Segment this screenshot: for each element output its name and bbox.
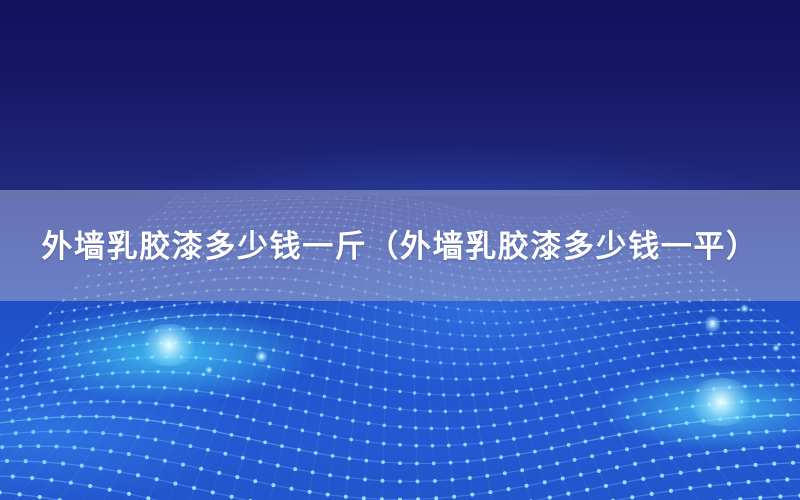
sky-haze-overlay — [0, 0, 800, 196]
page-title: 外墙乳胶漆多少钱一斤（外墙乳胶漆多少钱一平） — [41, 232, 758, 263]
title-band: 外墙乳胶漆多少钱一斤（外墙乳胶漆多少钱一平） — [0, 190, 800, 301]
banner-image: 外墙乳胶漆多少钱一斤（外墙乳胶漆多少钱一平） — [0, 0, 800, 500]
